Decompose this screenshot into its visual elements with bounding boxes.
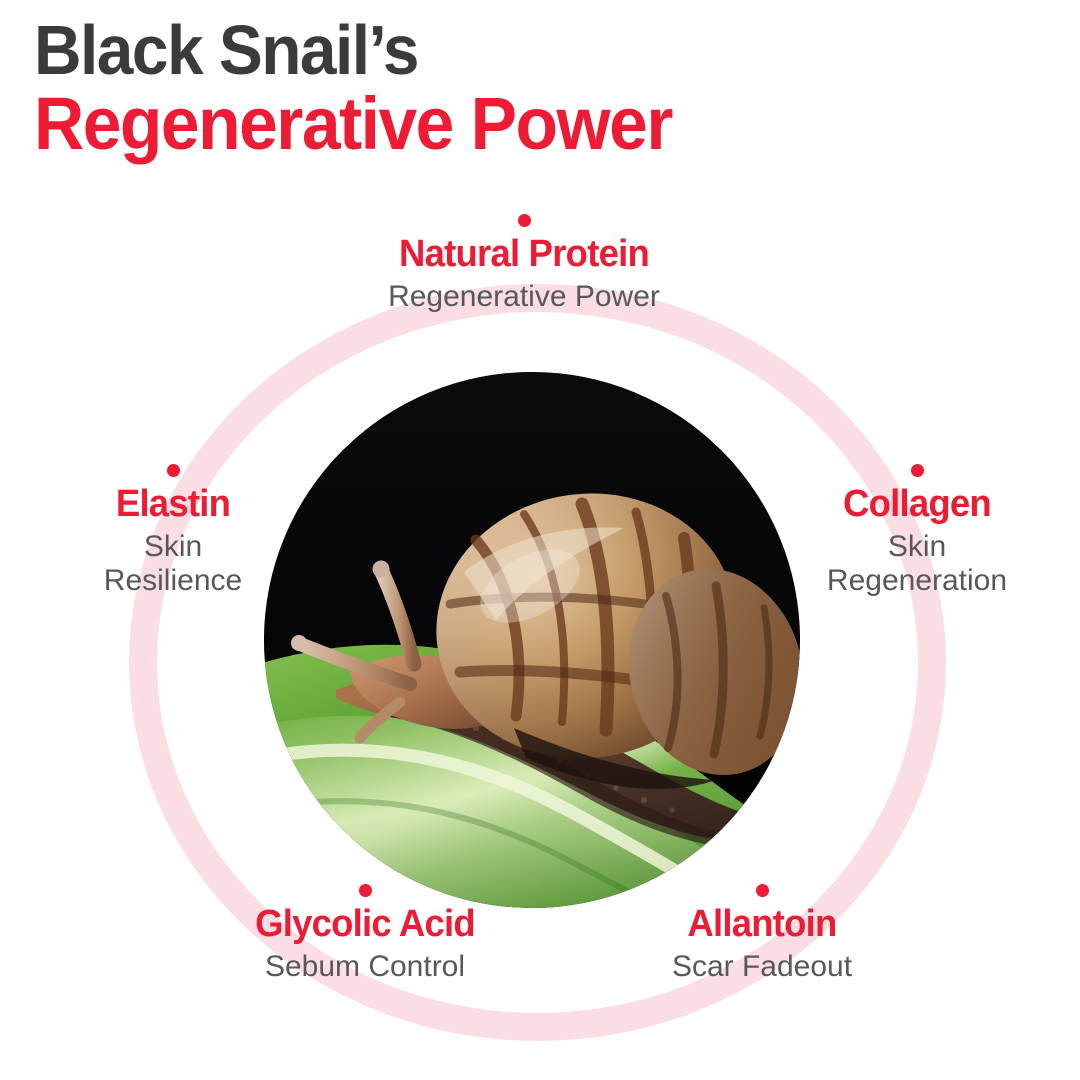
snail-illustration	[264, 372, 800, 908]
callout-subtitle-line: Scar Fadeout	[582, 950, 942, 984]
callout-title: Elastin	[43, 484, 302, 525]
callout-subtitle-line: Regenerative Power	[274, 280, 774, 314]
callout-elastin: Elastin Skin Resilience	[38, 464, 308, 598]
callout-glycolic-acid: Glycolic Acid Sebum Control	[155, 884, 575, 984]
callout-natural-protein: Natural Protein Regenerative Power	[274, 214, 774, 314]
callout-title: Natural Protein	[284, 234, 764, 275]
page-title: Black Snail’s Regenerative Power	[34, 14, 934, 162]
callout-subtitle-line: Regeneration	[772, 564, 1062, 598]
callout-subtitle-line: Resilience	[38, 564, 308, 598]
callout-title: Glycolic Acid	[163, 904, 566, 945]
callout-subtitle-line: Skin	[38, 530, 308, 564]
callout-subtitle-line: Sebum Control	[155, 950, 575, 984]
callout-title: Allantoin	[589, 904, 935, 945]
infographic-canvas: Black Snail’s Regenerative Power	[0, 0, 1080, 1080]
callout-subtitle: Regenerative Power	[274, 280, 774, 314]
callout-title: Collagen	[778, 484, 1056, 525]
callout-subtitle: Skin Regeneration	[772, 530, 1062, 598]
callout-subtitle: Sebum Control	[155, 950, 575, 984]
bullet-dot-icon	[911, 464, 924, 477]
snail-photo	[264, 372, 800, 908]
page-title-line-1: Black Snail’s	[34, 14, 880, 86]
callout-allantoin: Allantoin Scar Fadeout	[582, 884, 942, 984]
page-title-line-2: Regenerative Power	[34, 86, 880, 162]
bullet-dot-icon	[167, 464, 180, 477]
callout-subtitle: Scar Fadeout	[582, 950, 942, 984]
callout-subtitle-line: Skin	[772, 530, 1062, 564]
bullet-dot-icon	[518, 214, 531, 227]
bullet-dot-icon	[756, 884, 769, 897]
callout-collagen: Collagen Skin Regeneration	[772, 464, 1062, 598]
bullet-dot-icon	[359, 884, 372, 897]
callout-subtitle: Skin Resilience	[38, 530, 308, 598]
